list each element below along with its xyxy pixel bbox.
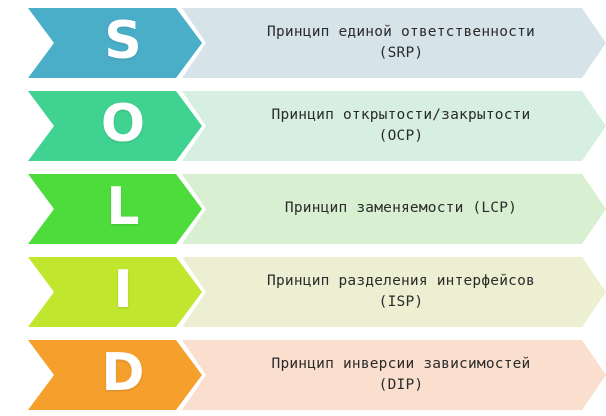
letter-glyph: O <box>101 98 145 150</box>
letter-chevron-i: I <box>28 257 202 327</box>
letter-glyph: S <box>104 15 141 67</box>
principle-label: Принцип открытости/закрытости (OCP) <box>272 105 531 147</box>
principle-row: D Принцип инверсии зависимостей (DIP) <box>0 332 606 415</box>
letter-chevron-d: D <box>28 340 202 410</box>
letter-chevron-s: S <box>28 8 202 78</box>
principle-band-dip: Принцип инверсии зависимостей (DIP) <box>182 340 606 410</box>
principle-label: Принцип инверсии зависимостей (DIP) <box>272 354 531 396</box>
letter-glyph: L <box>106 181 139 233</box>
principle-band-lcp: Принцип заменяемости (LCP) <box>182 174 606 244</box>
letter-chevron-o: O <box>28 91 202 161</box>
letter-glyph: D <box>101 347 144 399</box>
principle-row: I Принцип разделения интерфейсов (ISP) <box>0 249 606 332</box>
principle-band-ocp: Принцип открытости/закрытости (OCP) <box>182 91 606 161</box>
principle-label: Принцип разделения интерфейсов (ISP) <box>267 271 535 313</box>
principle-label: Принцип заменяемости (LCP) <box>285 198 517 219</box>
principle-row: S Принцип единой ответственности (SRP) <box>0 0 606 83</box>
letter-glyph: I <box>113 264 132 316</box>
letter-chevron-l: L <box>28 174 202 244</box>
principle-label: Принцип единой ответственности (SRP) <box>267 22 535 64</box>
principle-row: O Принцип открытости/закрытости (OCP) <box>0 83 606 166</box>
principle-band-srp: Принцип единой ответственности (SRP) <box>182 8 606 78</box>
principle-row: L Принцип заменяемости (LCP) <box>0 166 606 249</box>
solid-principles-diagram: S Принцип единой ответственности (SRP) O… <box>0 0 606 416</box>
principle-band-isp: Принцип разделения интерфейсов (ISP) <box>182 257 606 327</box>
